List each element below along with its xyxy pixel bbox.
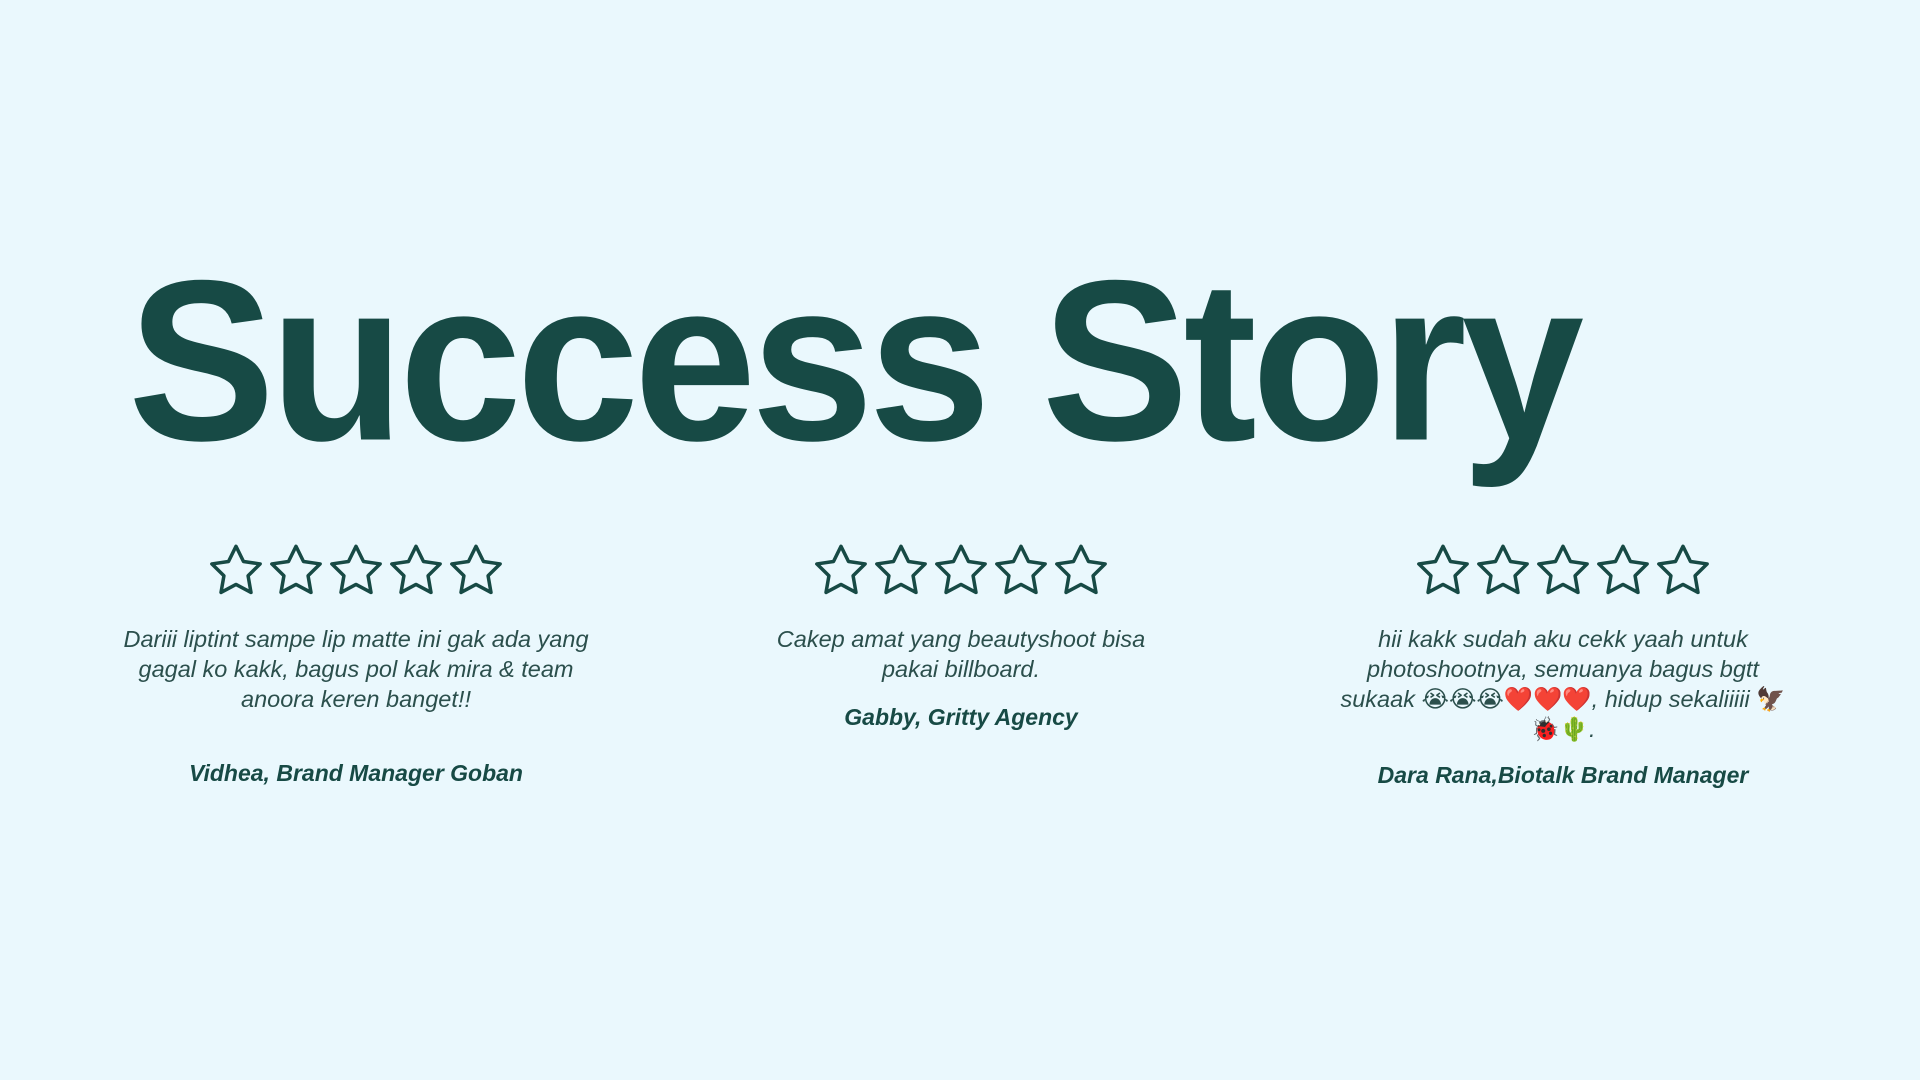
testimonial-quote: hii kakk sudah aku cekk yaah untuk photo… [1328,624,1798,744]
star-outline-icon [872,540,930,598]
testimonial-author: Gabby, Gritty Agency [844,702,1077,732]
star-outline-icon [992,540,1050,598]
testimonial-card-3: hii kakk sudah aku cekk yaah untuk photo… [1307,540,1819,790]
star-outline-icon [1052,540,1110,598]
star-outline-icon [327,540,385,598]
star-outline-icon [812,540,870,598]
testimonial-card-1: Dariii liptint sampe lip matte ini gak a… [100,540,612,788]
page-title: Success Story [128,247,1579,476]
star-outline-icon [447,540,505,598]
testimonial-card-2: Cakep amat yang beautyshoot bisa pakai b… [705,540,1217,732]
star-outline-icon [1474,540,1532,598]
star-outline-icon [932,540,990,598]
star-rating-3 [1414,540,1712,598]
star-outline-icon [1534,540,1592,598]
star-outline-icon [267,540,325,598]
star-outline-icon [387,540,445,598]
testimonial-quote: Cakep amat yang beautyshoot bisa pakai b… [746,624,1176,684]
testimonial-author: Vidhea, Brand Manager Goban [189,758,523,788]
star-rating-2 [812,540,1110,598]
testimonial-quote: Dariii liptint sampe lip matte ini gak a… [124,624,589,714]
star-outline-icon [207,540,265,598]
testimonials-row: Dariii liptint sampe lip matte ini gak a… [0,540,1920,790]
star-outline-icon [1654,540,1712,598]
testimonial-author: Dara Rana,Biotalk Brand Manager [1378,760,1749,790]
quote-text-segment: . [1589,716,1596,742]
star-outline-icon [1594,540,1652,598]
star-rating-1 [207,540,505,598]
quote-text-segment: , hidup sekaliiiii [1592,686,1757,712]
crying-face-and-heart-emoji: 😭😭😭❤️❤️❤️ [1421,685,1591,713]
star-outline-icon [1414,540,1472,598]
